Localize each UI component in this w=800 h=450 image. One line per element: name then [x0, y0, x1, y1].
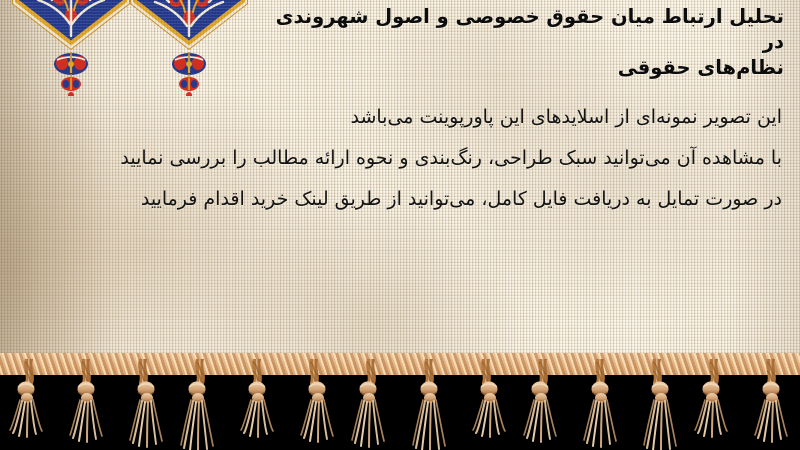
carpet-tassel — [463, 359, 509, 450]
carpet-tassel — [6, 359, 52, 450]
carpet-medallion-icon-2 — [126, 0, 252, 96]
carpet-tassel — [520, 359, 566, 450]
carpet-tassel — [348, 359, 394, 450]
carpet-fringe-band — [0, 353, 800, 450]
carpet-tassel-row — [0, 359, 800, 450]
carpet-tassel — [120, 359, 166, 450]
slide-title-line-2: نظام‌های حقوقی — [254, 55, 784, 80]
slide-body-text: این تصویر نمونه‌ای از اسلایدهای این پاور… — [17, 108, 782, 209]
carpet-tassel — [634, 359, 680, 450]
carpet-medallion-icon — [8, 0, 134, 96]
slide-title-line-1: تحلیل ارتباط میان حقوق خصوصی و اصول شهرو… — [254, 4, 784, 55]
carpet-tassel — [691, 359, 737, 450]
carpet-tassel — [406, 359, 452, 450]
carpet-tassel — [177, 359, 223, 450]
carpet-tassel — [291, 359, 337, 450]
body-line-1: این تصویر نمونه‌ای از اسلایدهای این پاور… — [17, 108, 782, 127]
slide-title: تحلیل ارتباط میان حقوق خصوصی و اصول شهرو… — [254, 4, 784, 80]
presentation-slide: تحلیل ارتباط میان حقوق خصوصی و اصول شهرو… — [0, 0, 800, 450]
body-line-3: در صورت تمایل به دریافت فایل کامل، می‌تو… — [17, 190, 782, 209]
carpet-tassel — [577, 359, 623, 450]
carpet-tassel — [234, 359, 280, 450]
carpet-tassel — [63, 359, 109, 450]
body-line-2: با مشاهده آن می‌توانید سبک طراحی، رنگ‌بن… — [17, 149, 782, 168]
carpet-tassel — [748, 359, 794, 450]
